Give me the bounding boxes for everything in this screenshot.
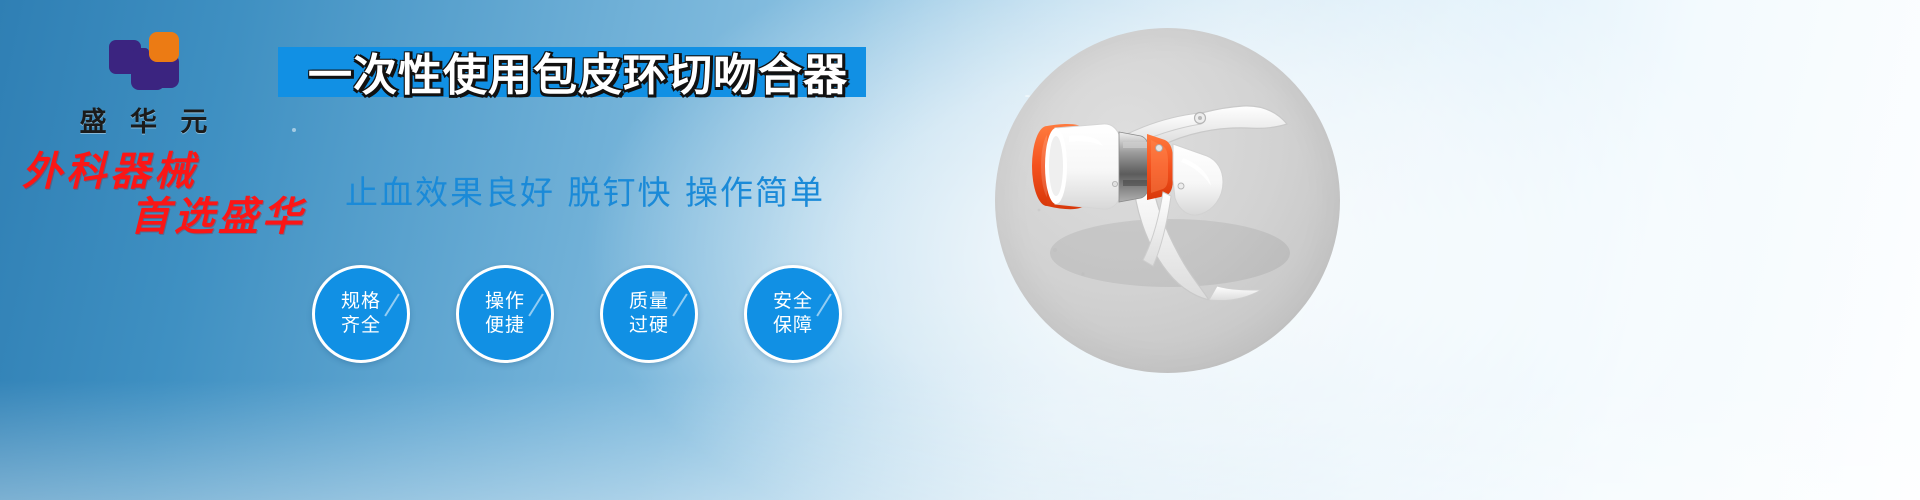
product-photo bbox=[995, 28, 1340, 373]
feature-badge-line-1: 质量 bbox=[629, 290, 669, 314]
promo-banner: 盛 华 元 一次性使用包皮环切吻合器 外科器械 首选盛华 止血效果良好 脱钉快 … bbox=[0, 0, 1920, 500]
product-illustration bbox=[995, 28, 1340, 373]
feature-badge-line-1: 操作 bbox=[485, 290, 525, 314]
feature-badge-line-1: 规格 bbox=[341, 290, 381, 314]
logo-mark-icon bbox=[109, 28, 185, 94]
slash-decor-icon bbox=[528, 293, 543, 316]
feature-badge[interactable]: 规格 齐全 bbox=[312, 265, 410, 363]
decorative-fleck bbox=[292, 128, 296, 132]
bottom-fade bbox=[0, 380, 1920, 500]
feature-badge[interactable]: 质量 过硬 bbox=[600, 265, 698, 363]
brand-logo[interactable]: 盛 华 元 bbox=[62, 28, 232, 139]
feature-badge-list: 规格 齐全 操作 便捷 质量 过硬 安全 保障 bbox=[312, 265, 842, 363]
calligraphy-line-2: 首选盛华 bbox=[130, 195, 306, 238]
feature-badge-line-2: 保障 bbox=[773, 314, 813, 338]
slash-decor-icon bbox=[672, 293, 687, 316]
calligraphy-line-1: 外科器械 bbox=[22, 148, 198, 195]
feature-badge-line-2: 过硬 bbox=[629, 314, 669, 338]
feature-badge[interactable]: 安全 保障 bbox=[744, 265, 842, 363]
brand-name: 盛 华 元 bbox=[62, 100, 232, 139]
slash-decor-icon bbox=[816, 293, 831, 316]
subtitle: 止血效果良好 脱钉快 操作简单 bbox=[345, 166, 825, 214]
feature-badge[interactable]: 操作 便捷 bbox=[456, 265, 554, 363]
calligraphy-slogan: 外科器械 首选盛华 bbox=[22, 150, 306, 238]
page-title: 一次性使用包皮环切吻合器 bbox=[288, 40, 868, 102]
feature-badge-line-2: 便捷 bbox=[485, 314, 525, 338]
feature-badge-line-1: 安全 bbox=[773, 290, 813, 314]
feature-badge-line-2: 齐全 bbox=[341, 314, 381, 338]
slash-decor-icon bbox=[384, 293, 399, 316]
